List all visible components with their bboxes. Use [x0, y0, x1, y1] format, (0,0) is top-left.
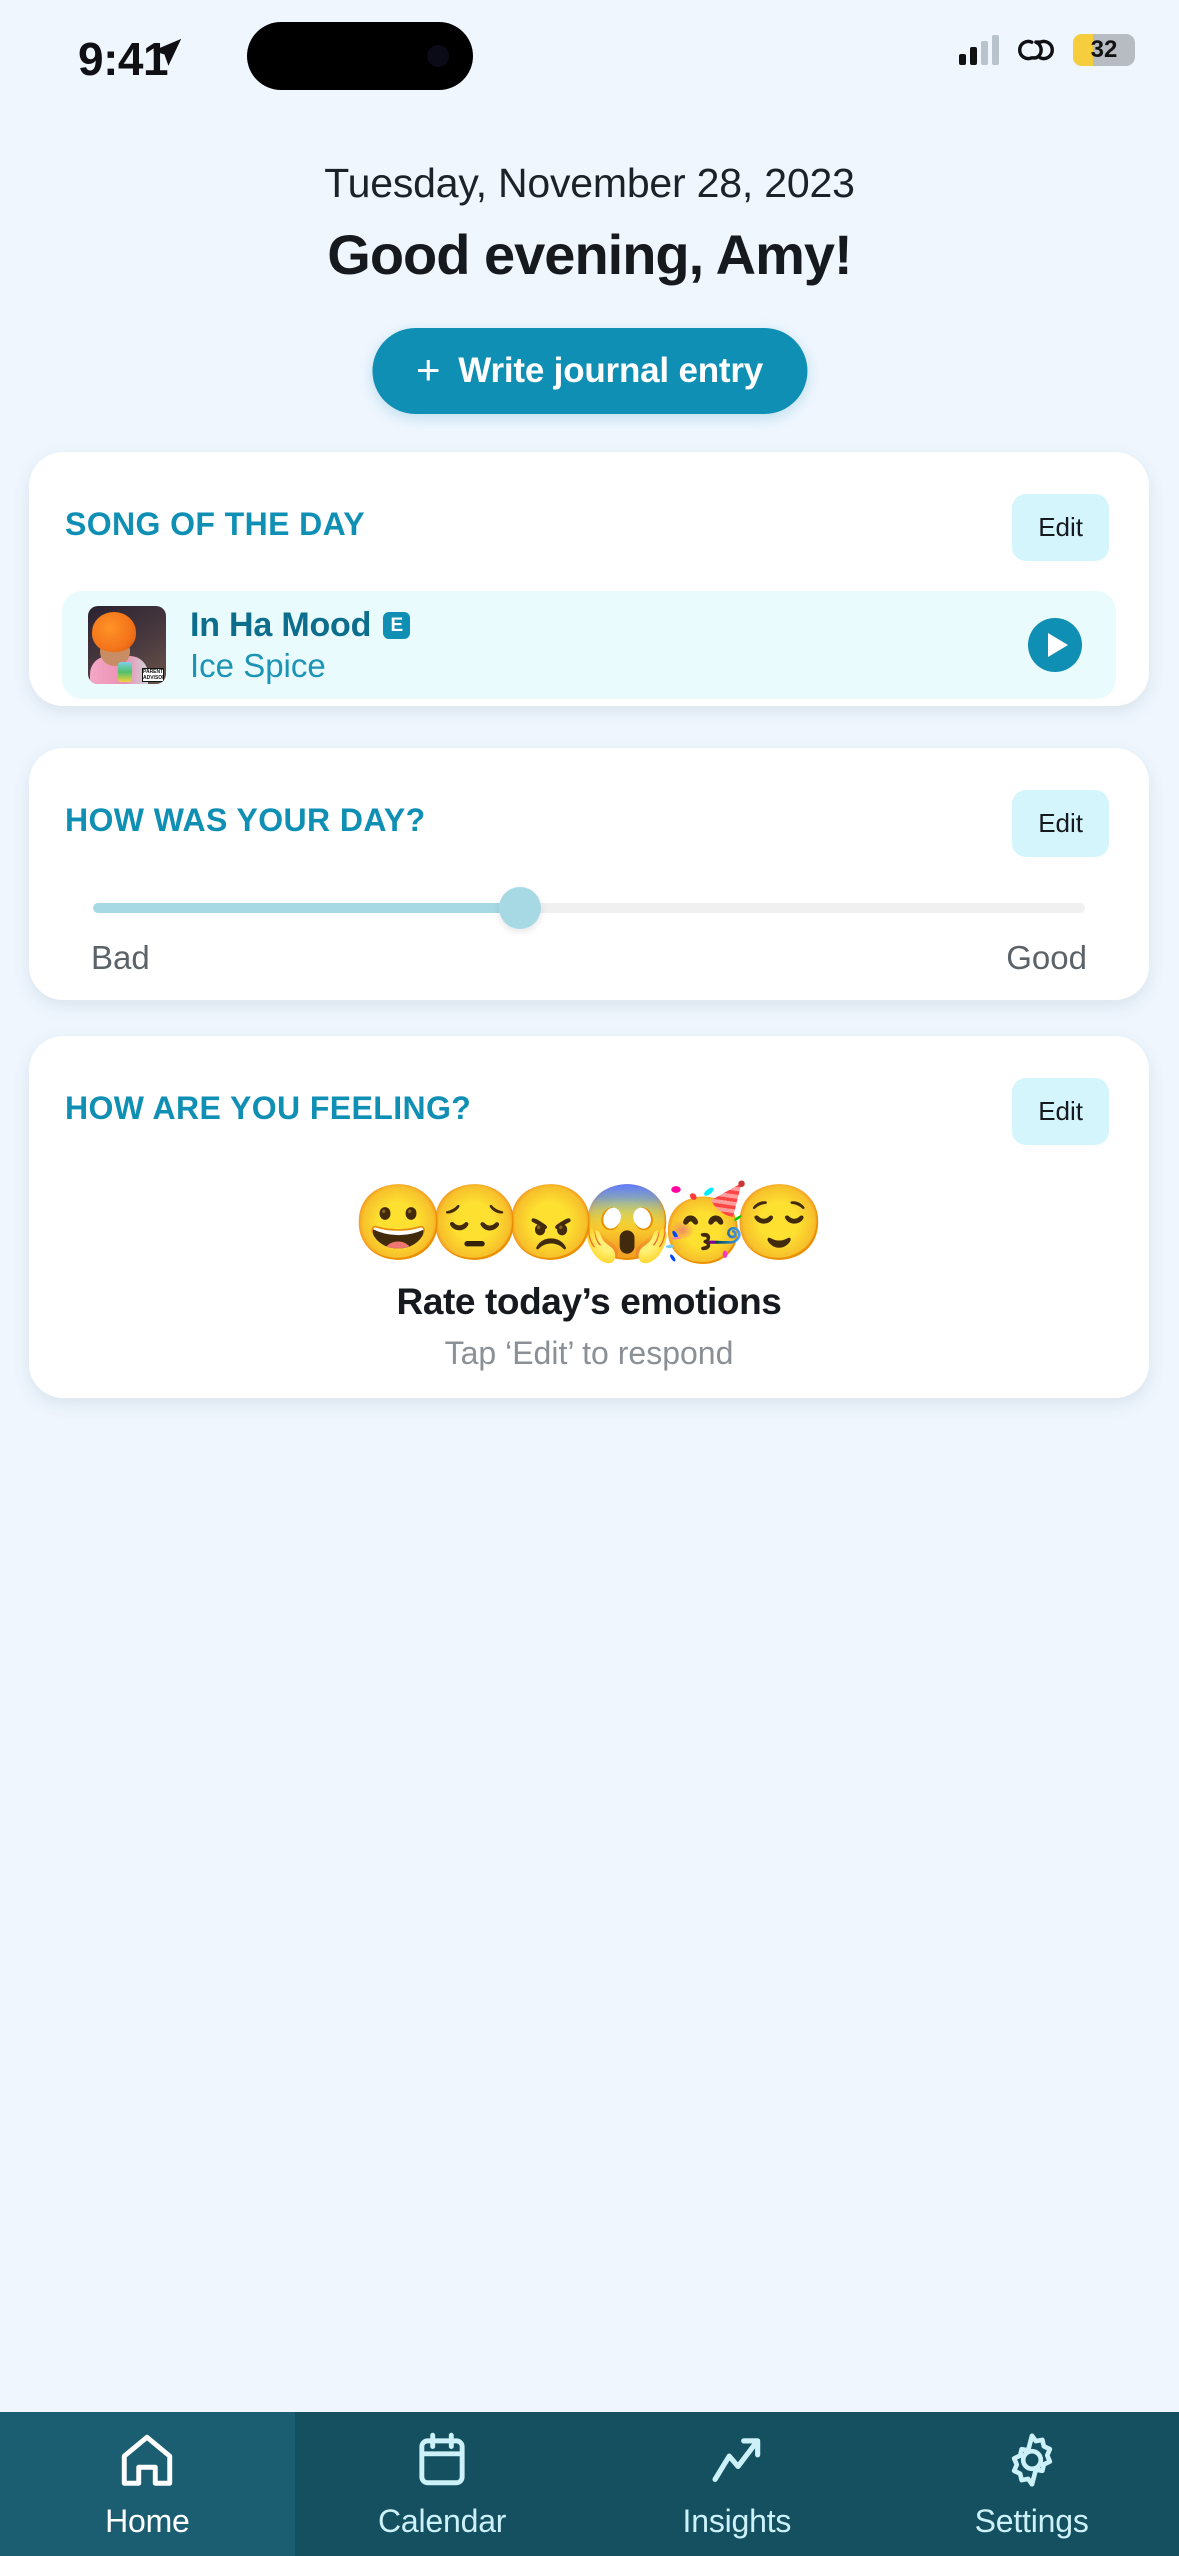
cellular-bars-icon: [959, 35, 999, 65]
feeling-card-header: HOW ARE YOU FEELING? Edit: [29, 1036, 1149, 1145]
tab-settings-label: Settings: [975, 2503, 1089, 2540]
how-was-your-day-card: HOW WAS YOUR DAY? Edit Bad Good: [29, 748, 1149, 1000]
tab-calendar[interactable]: Calendar: [295, 2412, 590, 2556]
song-card-header: SONG OF THE DAY Edit: [29, 452, 1149, 561]
front-camera-icon: [427, 45, 449, 67]
edit-feeling-button[interactable]: Edit: [1012, 1078, 1109, 1145]
edit-song-button[interactable]: Edit: [1012, 494, 1109, 561]
bottom-tab-bar: Home Calendar Insights Settings: [0, 2412, 1179, 2556]
tab-home[interactable]: Home: [0, 2412, 295, 2556]
app-screen: 9:41 32 Tuesday, November 28, 2023 Good …: [0, 0, 1179, 2556]
day-max-label: Good: [1006, 939, 1087, 977]
current-date: Tuesday, November 28, 2023: [0, 160, 1179, 207]
day-card-header: HOW WAS YOUR DAY? Edit: [29, 748, 1149, 857]
day-slider-fill: [93, 903, 520, 913]
edit-day-button[interactable]: Edit: [1012, 790, 1109, 857]
parental-advisory-icon: PARENTAL ADVISORY: [142, 668, 164, 682]
song-card-title: SONG OF THE DAY: [65, 494, 365, 543]
day-slider-thumb[interactable]: [499, 887, 541, 929]
plus-icon: +: [416, 349, 440, 391]
emotion-emoji: 😀: [353, 1186, 445, 1260]
song-title-row: In Ha Mood E: [190, 606, 1004, 645]
battery-indicator: 32: [1073, 34, 1135, 66]
song-meta: In Ha Mood E Ice Spice: [190, 606, 1004, 685]
trending-up-icon: [706, 2429, 768, 2491]
status-bar: 9:41 32: [0, 0, 1179, 140]
day-slider[interactable]: [93, 903, 1085, 913]
feeling-hint: Tap ‘Edit’ to respond: [29, 1335, 1149, 1372]
gear-icon: [1001, 2429, 1063, 2491]
status-indicators: 32: [959, 34, 1135, 66]
song-row[interactable]: PARENTAL ADVISORY In Ha Mood E Ice Spice: [62, 591, 1116, 699]
tab-insights-label: Insights: [683, 2503, 792, 2540]
tab-home-label: Home: [105, 2503, 190, 2540]
day-scale-labels: Bad Good: [29, 913, 1149, 977]
emotion-emoji-row: 😀😔😠😱🥳😌: [29, 1179, 1149, 1267]
tab-insights[interactable]: Insights: [590, 2412, 885, 2556]
feeling-card-title: HOW ARE YOU FEELING?: [65, 1078, 471, 1127]
greeting-title: Good evening, Amy!: [0, 222, 1179, 287]
how-are-you-feeling-card: HOW ARE YOU FEELING? Edit 😀😔😠😱🥳😌 Rate to…: [29, 1036, 1149, 1398]
write-journal-entry-label: Write journal entry: [458, 351, 763, 391]
day-card-title: HOW WAS YOUR DAY?: [65, 790, 426, 839]
write-journal-entry-button[interactable]: + Write journal entry: [372, 328, 807, 414]
explicit-badge: E: [383, 612, 410, 639]
play-button[interactable]: [1028, 618, 1082, 672]
feeling-prompt: Rate today’s emotions: [29, 1281, 1149, 1323]
tab-calendar-label: Calendar: [378, 2503, 506, 2540]
battery-percent: 32: [1073, 34, 1135, 66]
home-icon: [116, 2429, 178, 2491]
dynamic-island: [247, 22, 473, 90]
song-of-the-day-card: SONG OF THE DAY Edit PARENTAL ADVISORY I…: [29, 452, 1149, 706]
song-title: In Ha Mood: [190, 606, 371, 645]
song-artist: Ice Spice: [190, 647, 1004, 685]
tab-settings[interactable]: Settings: [884, 2412, 1179, 2556]
day-min-label: Bad: [91, 939, 150, 977]
album-art: PARENTAL ADVISORY: [88, 606, 166, 684]
calendar-icon: [411, 2429, 473, 2491]
location-arrow-icon: [150, 36, 184, 70]
link-chain-icon: [1016, 34, 1056, 66]
play-icon: [1048, 633, 1068, 657]
day-slider-wrap: [29, 857, 1149, 913]
